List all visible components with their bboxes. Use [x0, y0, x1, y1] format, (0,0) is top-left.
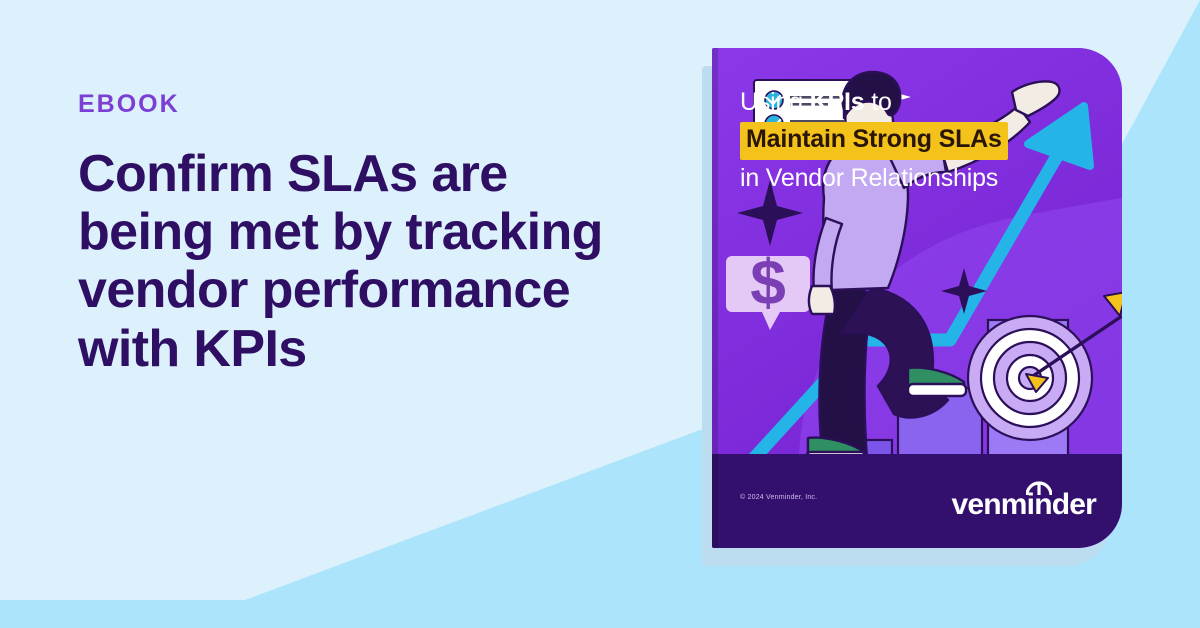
eyebrow-label: EBOOK [78, 92, 718, 117]
dollar-sign: $ [750, 246, 786, 318]
headline-line-2: being met by tracking [78, 203, 603, 261]
cover-footer: © 2024 Venminder, Inc. venminder [712, 454, 1122, 548]
cover-front: $ [712, 48, 1122, 548]
copyright-text: © 2024 Venminder, Inc. [740, 494, 817, 501]
cover-title-line-3: in Vendor Relationships [740, 162, 1090, 195]
headline-line-3: vendor performance [78, 261, 570, 319]
promo-text-column: EBOOK Confirm SLAs are being met by trac… [78, 92, 718, 378]
cover-title-line-1: Using KPIs to [740, 86, 1090, 119]
cover-title-suffix: to [864, 88, 891, 116]
page-title: Confirm SLAs are being met by tracking v… [78, 145, 718, 378]
logo-wordmark: venminder [951, 490, 1096, 520]
headline-line-1: Confirm SLAs are [78, 145, 508, 203]
cover-title-highlight: Maintain Strong SLAs [740, 122, 1008, 159]
shoe-front-sole [908, 384, 966, 396]
venminder-logo: venminder [926, 480, 1096, 520]
headline-line-4: with KPIs [78, 320, 307, 378]
cover-title-bold: KPIs [810, 88, 865, 116]
ebook-cover[interactable]: $ [712, 48, 1122, 548]
cover-title-line-2: Maintain Strong SLAs [740, 119, 1090, 161]
hand-resting [809, 286, 835, 314]
cover-title: Using KPIs to Maintain Strong SLAs in Ve… [740, 86, 1090, 195]
cover-title-prefix: Using [740, 88, 810, 116]
